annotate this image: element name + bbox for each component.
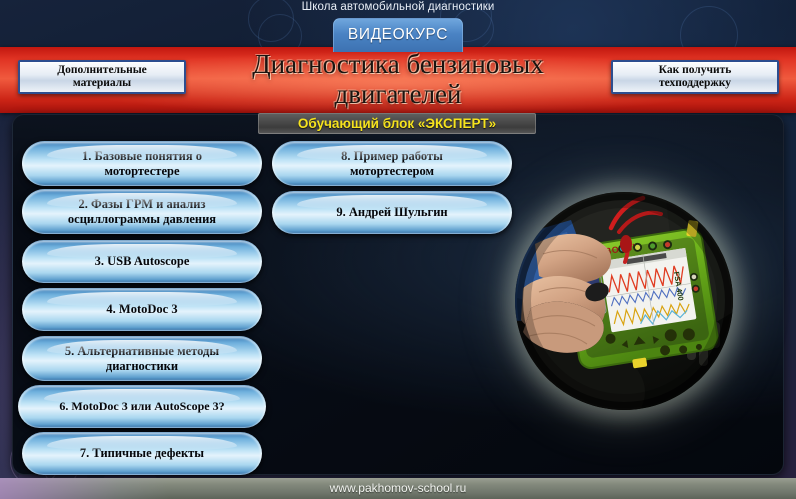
page-title: Диагностика бензиновых двигателей (198, 49, 598, 109)
menu-item-9[interactable]: 9. Андрей Шульгин (272, 191, 512, 234)
site-caption: Школа автомобильной диагностики (0, 1, 796, 13)
menu-item-7[interactable]: 7. Типичные дефекты (22, 432, 262, 475)
menu-item-5[interactable]: 5. Альтернативные методы диагностики (22, 336, 262, 381)
videocourse-tab[interactable]: ВИДЕОКУРС (333, 18, 463, 52)
tech-support-button[interactable]: Как получить техподдержку (611, 60, 779, 94)
additional-materials-button[interactable]: Дополнительные материалы (18, 60, 186, 94)
menu-item-2[interactable]: 2. Фазы ГРМ и анализ осциллограммы давле… (22, 189, 262, 234)
footer-website[interactable]: www.pakhomov-school.ru (0, 478, 796, 499)
motortester-photo: BOSCH FSA 400 (515, 192, 733, 410)
motortester-photo-image: BOSCH FSA 400 (515, 192, 733, 410)
menu-item-4[interactable]: 4. MotoDoc 3 (22, 288, 262, 331)
presentation-slide: Школа автомобильной диагностики ВИДЕОКУР… (0, 0, 796, 499)
expert-block-badge: Обучающий блок «ЭКСПЕРТ» (258, 113, 536, 134)
menu-item-3[interactable]: 3. USB Autoscope (22, 240, 262, 283)
menu-item-8[interactable]: 8. Пример работы мотортестером (272, 141, 512, 186)
menu-item-1[interactable]: 1. Базовые понятия о мотортестере (22, 141, 262, 186)
menu-item-6[interactable]: 6. MotoDoc 3 или AutoScope 3? (18, 385, 266, 428)
